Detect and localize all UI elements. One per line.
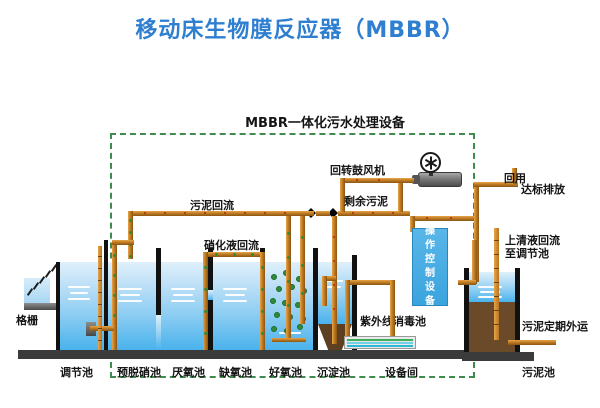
pipe-clarifier-effluent: [345, 280, 395, 285]
ground-left: [18, 350, 110, 359]
tank-label-5: 沉淀池: [317, 364, 350, 380]
control-cabinet-text: 操作 控制 设备: [421, 225, 439, 309]
label-nitrate-return: 硝化液回流: [204, 237, 259, 253]
tank-label-7: 污泥池: [522, 364, 555, 380]
pipe-predenit-top: [112, 240, 134, 245]
pipe-blower-outlet: [398, 178, 414, 183]
uv-disinfection-unit: [344, 336, 416, 349]
page-title: 移动床生物膜反应器（MBBR）: [0, 12, 600, 44]
pipe-nitrate-return-top: [203, 252, 265, 257]
pipe-valve-seg-2: [316, 211, 330, 216]
pipe-equip-room-top: [410, 216, 478, 221]
tank-label-4: 好氧池: [269, 364, 302, 380]
fan-icon: [420, 152, 441, 173]
tank-anaerobic-water: [161, 262, 208, 350]
label-excess-sludge: 剩余污泥: [344, 193, 388, 209]
pipe-nitrate-return-right-leg: [260, 252, 265, 350]
blower-body: [418, 172, 462, 187]
tank-label-0: 调节池: [60, 364, 93, 380]
ground-center: [110, 350, 340, 359]
tank-label-6: 设备间: [385, 364, 418, 380]
label-grate: 格栅: [16, 312, 38, 328]
pipe-aerobic-riser: [300, 216, 305, 324]
ground-equip: [340, 350, 475, 359]
pipe-blower-down: [398, 178, 403, 212]
tank-label-2: 厌氧池: [172, 364, 205, 380]
pipe-clarifier-inlet-drop: [322, 276, 327, 306]
supernatant-return-pipe: [494, 228, 499, 340]
aeration-diffuser: [272, 338, 306, 342]
pipe-sludge-haul: [508, 340, 556, 345]
tank-anoxic-water: [213, 262, 260, 350]
pipe-uv-outlet: [390, 280, 395, 336]
grate-icon: [26, 266, 60, 306]
pipe-sludge-tank-inlet: [472, 240, 477, 284]
pipe-aeration-drop: [286, 216, 291, 340]
control-cabinet[interactable]: 操作 控制 设备: [412, 228, 448, 306]
ground-right: [462, 352, 534, 361]
label-sludge-return: 污泥回流: [190, 197, 234, 213]
pipe-pump-discharge: [90, 326, 114, 331]
skid-title: MBBR一体化污水处理设备: [200, 112, 450, 131]
pipe-nitrate-return-left-leg: [203, 252, 208, 350]
label-supernatant-return-line2: 至调节池: [505, 245, 549, 261]
diagram-canvas: 移动床生物膜反应器（MBBR） MBBR一体化污水处理设备 格栅: [0, 0, 600, 408]
pipe-valve-seg-1: [306, 211, 314, 216]
tank-label-row: 调节池预脱硝池厌氧池缺氧池好氧池沉淀池设备间污泥池: [0, 364, 600, 384]
level-gauge-left: [98, 246, 102, 350]
tank-label-3: 缺氧池: [219, 364, 252, 380]
pipe-uv-inlet: [345, 280, 350, 336]
pipe-sludge-tank-inlet-elbow: [458, 280, 476, 285]
label-sludge-haul: 污泥定期外运: [522, 318, 588, 334]
label-compliant-discharge: 达标排放: [521, 181, 565, 197]
control-line-3: 设备: [421, 281, 439, 309]
tank-label-1: 预脱硝池: [117, 364, 161, 380]
control-line-2: 控制: [421, 253, 439, 281]
pipe-predenit-riser: [112, 240, 117, 350]
pipe-sludge-return-drop: [128, 211, 133, 259]
label-blower: 回转鼓风机: [330, 162, 385, 178]
control-line-1: 操作: [421, 225, 439, 253]
